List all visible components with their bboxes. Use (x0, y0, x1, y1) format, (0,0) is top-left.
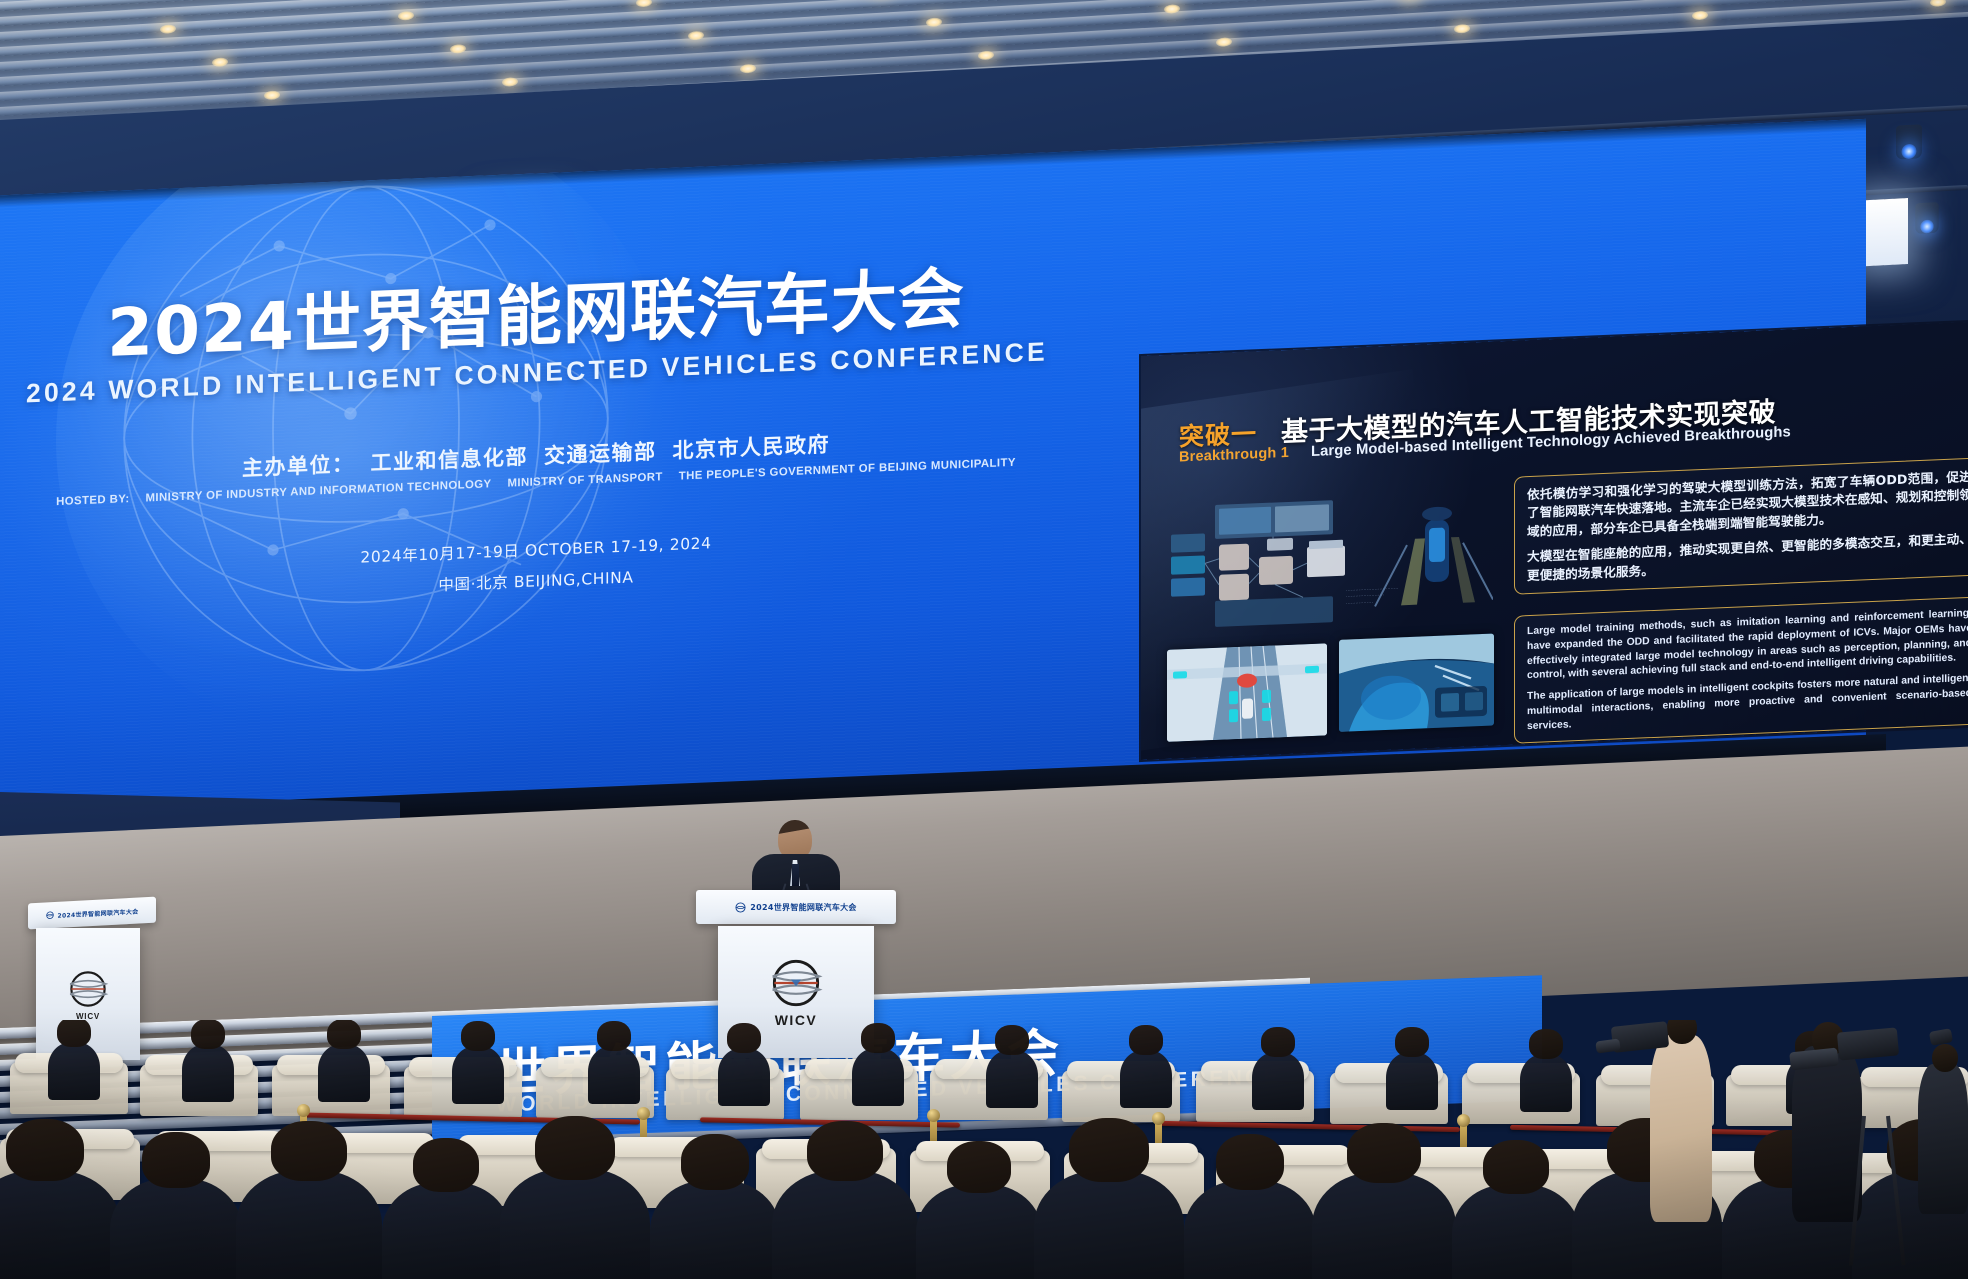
audience-member (48, 1042, 100, 1100)
audience-member-head (861, 1023, 895, 1053)
audience-member-head (947, 1141, 1011, 1193)
wicv-logo-icon-left (65, 968, 111, 1010)
road-scene-photo (1167, 643, 1327, 742)
ceiling-downlight (160, 24, 176, 34)
audience-member (0, 1170, 120, 1279)
host-en-1: MINISTRY OF TRANSPORT (508, 471, 663, 489)
audience-member-head (461, 1021, 495, 1051)
podium-center-label: 2024世界智能网联汽车大会 (750, 902, 856, 913)
audience-member-head (271, 1121, 347, 1181)
audience-member-head (1347, 1123, 1421, 1183)
audience-member (650, 1180, 780, 1279)
audience-member (236, 1170, 382, 1279)
host-label-cn: 主办单位： (242, 452, 355, 481)
audience-member-head (597, 1021, 631, 1051)
wicv-logo-icon-small (735, 902, 746, 913)
audience-member (1452, 1184, 1580, 1279)
ceiling-downlight (398, 11, 414, 21)
camera-operator (1918, 1044, 1968, 1214)
audience-member-head (1483, 1140, 1549, 1194)
audience-member-head (681, 1134, 749, 1190)
audience-member-head (1069, 1118, 1149, 1182)
audience-member-head (327, 1020, 361, 1049)
audience-member-head (1529, 1029, 1563, 1059)
host-label-en: HOSTED BY: (56, 493, 129, 508)
podium-center-header: 2024世界智能网联汽车大会 (696, 890, 896, 924)
audience-member (1034, 1170, 1184, 1279)
audience-member (588, 1046, 640, 1104)
audience-member-head (535, 1116, 615, 1180)
english-paragraph-1: Large model training methods, such as im… (1527, 607, 1968, 684)
stage-light (1915, 202, 1938, 234)
audience-member-head (57, 1020, 91, 1047)
audience-member (718, 1048, 770, 1106)
conference-hall-scene: 2024世界智能网联汽车大会 2024 WORLD INTELLIGENT CO… (0, 0, 1968, 1279)
audience-member-head (1395, 1027, 1429, 1057)
audience-member-head (191, 1020, 225, 1049)
stage-light (1896, 124, 1922, 159)
host-cn-0: 工业和信息化部 (371, 445, 529, 475)
camera-operator-body (1650, 1035, 1712, 1223)
audience-member-head (413, 1138, 479, 1192)
podium-left-label: 2024世界智能网联汽车大会 (58, 906, 139, 919)
audience-member-head (807, 1121, 883, 1181)
audience-member-head (995, 1025, 1029, 1055)
speaker-tie (792, 864, 799, 886)
audience-member (986, 1050, 1038, 1108)
audience-member (1386, 1052, 1438, 1110)
audience-member (1120, 1050, 1172, 1108)
audience-member-head (6, 1119, 84, 1181)
chinese-text-box: 依托模仿学习和强化学习的驾驶大模型训练方法，拓宽了车辆ODD范围，促进了智能网联… (1514, 457, 1968, 594)
chinese-paragraph-1: 依托模仿学习和强化学习的驾驶大模型训练方法，拓宽了车辆ODD范围，促进了智能网联… (1527, 468, 1968, 541)
camera-operator-head (1932, 1044, 1958, 1072)
cockpit-photo (1339, 634, 1494, 732)
audience-member-head (142, 1132, 210, 1188)
audience-member-head (1216, 1134, 1284, 1190)
conference-title-block: 2024世界智能网联汽车大会 2024 WORLD INTELLIGENT CO… (26, 260, 1046, 612)
audience-member-head (727, 1023, 761, 1053)
audience-member (1184, 1180, 1316, 1279)
audience-area (0, 1020, 1968, 1279)
audience-member (1252, 1052, 1304, 1110)
camera-operator (1650, 1020, 1712, 1222)
architecture-diagram (1163, 482, 1493, 636)
host-cn-1: 交通运输部 (544, 439, 657, 468)
video-camera (1837, 1027, 1899, 1060)
wall-light-panel (1860, 198, 1908, 267)
camera-operator-body (1792, 1046, 1862, 1222)
wicv-logo-icon-small-left (46, 911, 54, 919)
audience-member (382, 1182, 510, 1279)
english-text-box: Large model training methods, such as im… (1514, 596, 1968, 744)
audience-member-head (1129, 1025, 1163, 1055)
audience-member (916, 1184, 1042, 1279)
host-cn-2: 北京市人民政府 (673, 432, 831, 462)
audience-member (110, 1178, 242, 1279)
audience-member (1520, 1054, 1572, 1112)
audience-member (772, 1170, 918, 1279)
audience-member (852, 1048, 904, 1106)
audience-member (182, 1044, 234, 1102)
audience-member (500, 1168, 650, 1279)
presentation-slide: 突破一 基于大模型的汽车人工智能技术实现突破 Breakthrough 1 La… (1141, 321, 1968, 760)
audience-member-head (1261, 1027, 1295, 1057)
audience-member (452, 1046, 504, 1104)
wicv-logo-icon (766, 956, 826, 1010)
ceiling-downlight (636, 0, 652, 7)
camera-operator-body (1918, 1064, 1968, 1215)
audience-member (1312, 1172, 1456, 1279)
audience-member (318, 1044, 370, 1102)
podium-left-header: 2024世界智能网联汽车大会 (28, 897, 156, 930)
